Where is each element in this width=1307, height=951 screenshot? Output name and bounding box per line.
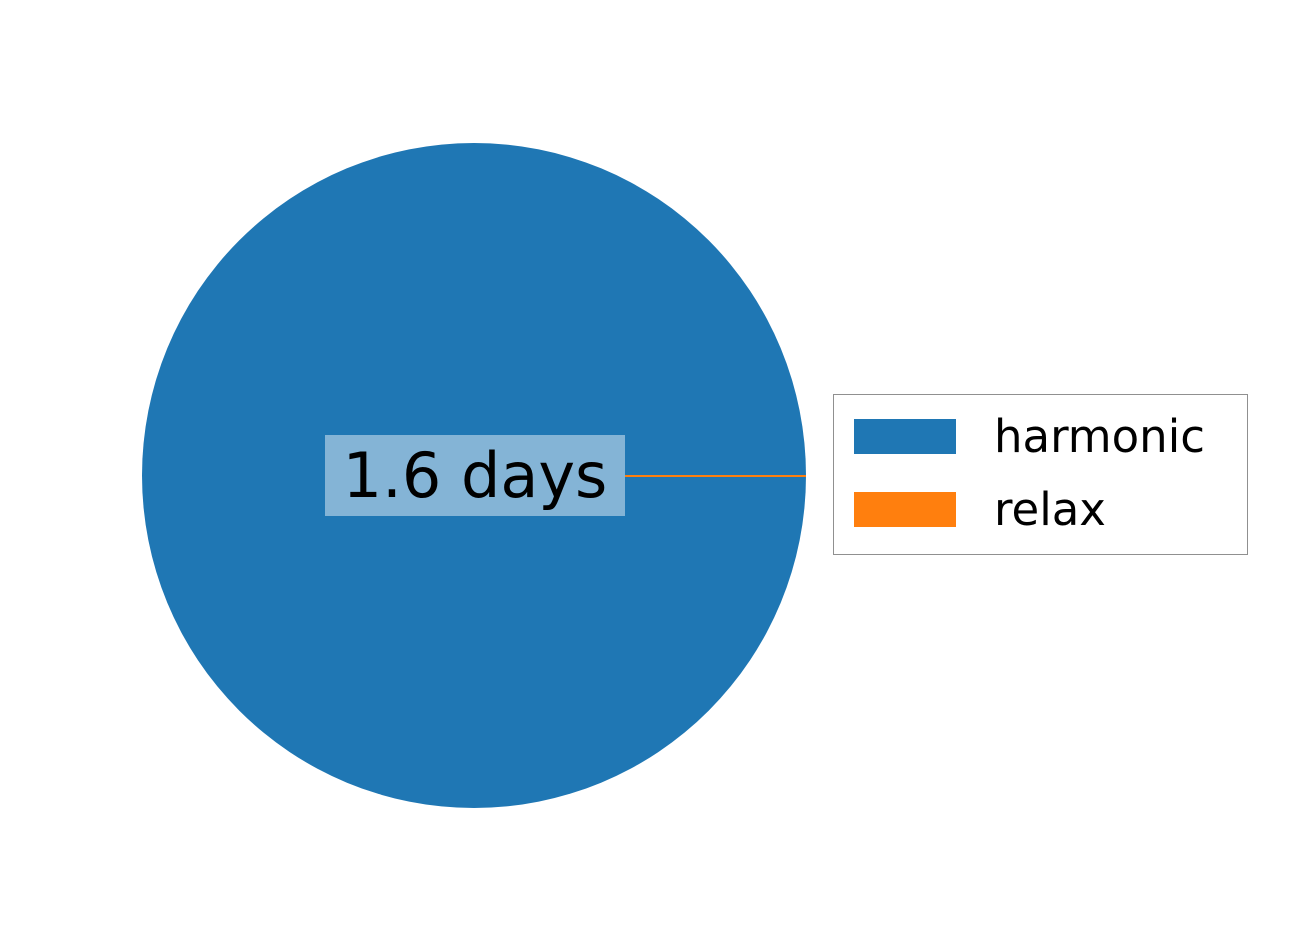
- pie-chart-figure: 1.6 days harmonic relax: [0, 0, 1307, 951]
- chart-legend: harmonic relax: [833, 394, 1248, 555]
- label-leader-line: [625, 475, 806, 477]
- legend-swatch-relax: [854, 492, 956, 527]
- legend-label-harmonic: harmonic: [994, 414, 1205, 459]
- legend-swatch-harmonic: [854, 419, 956, 454]
- legend-label-relax: relax: [994, 487, 1106, 532]
- pie-slice-label-harmonic: 1.6 days: [325, 435, 625, 516]
- legend-entry-harmonic[interactable]: harmonic: [834, 413, 1247, 459]
- legend-entry-relax[interactable]: relax: [834, 486, 1247, 532]
